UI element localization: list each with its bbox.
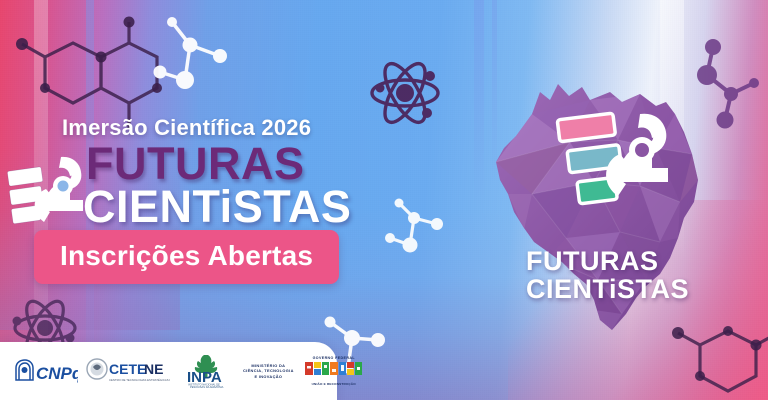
brasil-bottom-text: UNIÃO E RECONSTRUÇÃO [304,382,364,386]
brand-line-cientistas: CIENTiSTAS [83,184,351,229]
map-caption-line2: CIENTiSTAS [526,276,689,303]
mcti-logo[interactable]: MINISTÉRIO DA CIÊNCIA, TECNOLOGIA E INOV… [243,363,294,380]
svg-text:NE: NE [144,361,163,377]
promo-banner: FUTURAS CIENTiSTAS Imersão Científica 20… [0,0,768,400]
molecule-node-icon [154,17,228,89]
brazil-map-svg [470,62,730,352]
mcti-line2: CIÊNCIA, TECNOLOGIA [243,368,294,374]
map-caption-line1: FUTURAS [526,246,659,276]
cta-label: Inscrições Abertas [60,240,313,271]
map-caption: FUTURAS CIENTiSTAS [526,248,689,303]
cetene-logo[interactable]: CETE NE CENTRO DE TECNOLOGIAS ESTRATÉGIC… [86,356,170,386]
brasil-logo[interactable]: GOVERNO FEDERAL [304,356,364,386]
mcti-line3: E INOVAÇÃO [243,374,294,380]
headline-block: Imersão Científica 2026 FUTURAS [58,115,478,233]
microscope-icon [6,155,92,233]
brand-line-futuras: FUTURAS [86,143,351,186]
inscricoes-abertas-button[interactable]: Inscrições Abertas [34,230,339,284]
svg-text:CENTRO DE TECNOLOGIAS ESTRATÉG: CENTRO DE TECNOLOGIAS ESTRATÉGICAS DO NO… [109,377,170,382]
svg-text:CETE: CETE [109,361,146,377]
brazil-map-graphic: FUTURAS CIENTiSTAS [470,62,730,352]
sponsor-logo-bar: CNPq CETE NE CENTRO DE TECNOLOGIAS ESTRA… [0,342,337,400]
svg-text:CNPq: CNPq [36,364,78,383]
molecule-hexagon-icon [22,22,157,128]
brand-wordmark: FUTURAS CIENTiSTAS [86,143,351,229]
inpa-logo[interactable]: INPA INSTITUTO NACIONAL DE PESQUISAS DA … [178,354,234,388]
brand-logotype: FUTURAS CIENTiSTAS [6,143,478,233]
brasil-wordmark [304,360,364,377]
cnpq-logo[interactable]: CNPq [12,358,78,384]
